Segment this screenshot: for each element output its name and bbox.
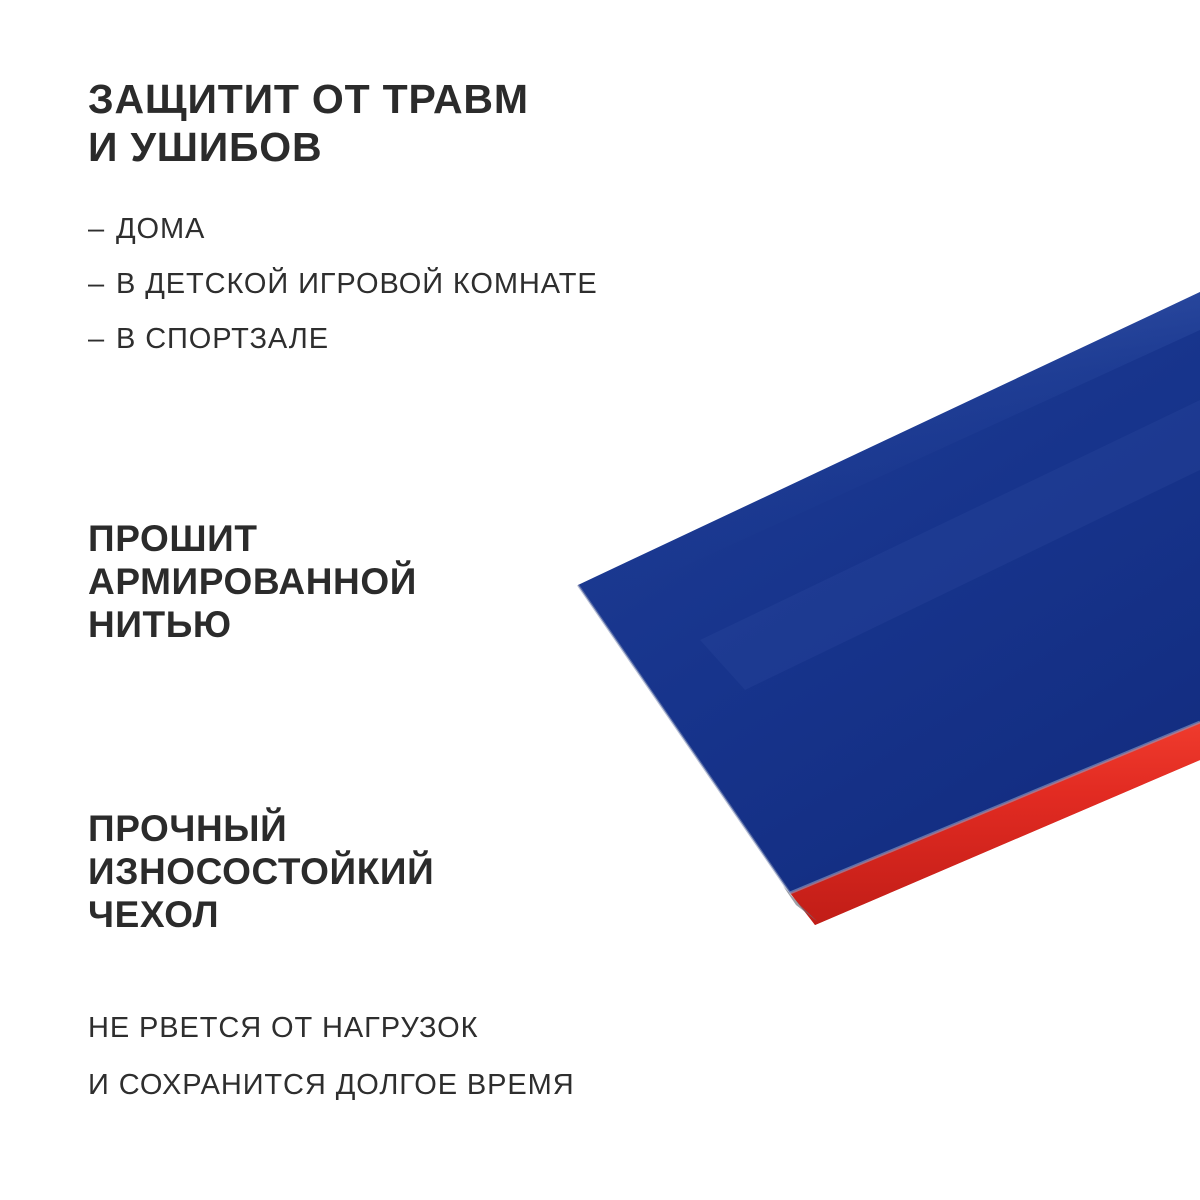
stitching-heading: ПРОШИТ АРМИРОВАННОЙ НИТЬЮ xyxy=(88,518,417,647)
dash-icon: – xyxy=(88,215,116,244)
dash-icon: – xyxy=(88,270,116,299)
protection-heading: ЗАЩИТИТ ОТ ТРАВМ И УШИБОВ xyxy=(88,76,598,171)
dash-icon: – xyxy=(88,325,116,354)
durability-line-2: И СОХРАНИТСЯ ДОЛГОЕ ВРЕМЯ xyxy=(88,1071,575,1100)
protection-bullet-list: – ДОМА – В ДЕТСКОЙ ИГРОВОЙ КОМНАТЕ – В С… xyxy=(88,215,598,354)
section-durability: НЕ РВЕТСЯ ОТ НАГРУЗОК И СОХРАНИТСЯ ДОЛГО… xyxy=(88,1014,575,1100)
text-content: ЗАЩИТИТ ОТ ТРАВМ И УШИБОВ – ДОМА – В ДЕТ… xyxy=(0,0,1200,1200)
bullet-label: В СПОРТЗАЛЕ xyxy=(116,325,329,354)
list-item: – ДОМА xyxy=(88,215,598,244)
infographic-page: ЗАЩИТИТ ОТ ТРАВМ И УШИБОВ – ДОМА – В ДЕТ… xyxy=(0,0,1200,1200)
section-cover: ПРОЧНЫЙ ИЗНОСОСТОЙКИЙ ЧЕХОЛ xyxy=(88,808,434,937)
list-item: – В ДЕТСКОЙ ИГРОВОЙ КОМНАТЕ xyxy=(88,270,598,299)
section-stitching: ПРОШИТ АРМИРОВАННОЙ НИТЬЮ xyxy=(88,518,417,647)
section-protection: ЗАЩИТИТ ОТ ТРАВМ И УШИБОВ – ДОМА – В ДЕТ… xyxy=(88,76,598,380)
durability-line-1: НЕ РВЕТСЯ ОТ НАГРУЗОК xyxy=(88,1014,575,1043)
list-item: – В СПОРТЗАЛЕ xyxy=(88,325,598,354)
bullet-label: ДОМА xyxy=(116,215,205,244)
durability-note: НЕ РВЕТСЯ ОТ НАГРУЗОК И СОХРАНИТСЯ ДОЛГО… xyxy=(88,1014,575,1100)
cover-heading: ПРОЧНЫЙ ИЗНОСОСТОЙКИЙ ЧЕХОЛ xyxy=(88,808,434,937)
bullet-label: В ДЕТСКОЙ ИГРОВОЙ КОМНАТЕ xyxy=(116,270,598,299)
